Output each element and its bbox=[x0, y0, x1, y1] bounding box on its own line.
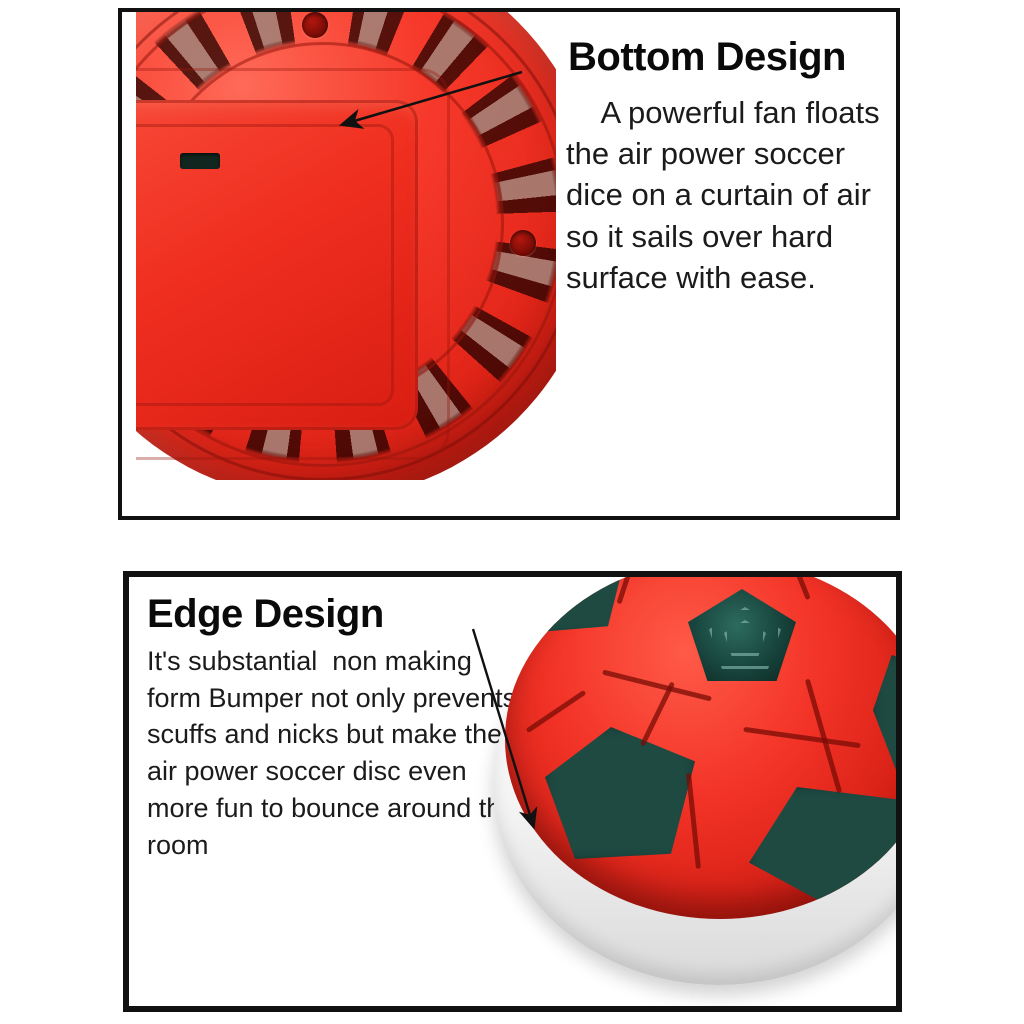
disc-underside-body bbox=[136, 12, 556, 480]
seam-6 bbox=[602, 670, 712, 702]
center-fan-grille bbox=[688, 589, 796, 681]
infographic-canvas: Bottom Design A powerful fan floats the … bbox=[0, 0, 1024, 1024]
facet-green-bottom bbox=[749, 787, 897, 913]
screw-hole-top bbox=[302, 12, 328, 38]
battery-cover-plate bbox=[136, 100, 418, 430]
panel-heading-bottom-design: Bottom Design bbox=[568, 36, 892, 78]
battery-cover-slot bbox=[180, 153, 220, 169]
panel-bottom-design: Bottom Design A powerful fan floats the … bbox=[118, 8, 900, 520]
seam-8 bbox=[526, 690, 587, 733]
red-hover-disc-underside-photo bbox=[136, 12, 556, 480]
seam-1 bbox=[616, 577, 638, 604]
panel-edge-design: Edge Design It's substantial non making … bbox=[123, 571, 902, 1012]
soccer-hover-disc-photo bbox=[459, 577, 897, 1006]
seam-5 bbox=[686, 773, 701, 869]
screw-hole-right bbox=[510, 230, 536, 256]
facet-green-top-left bbox=[505, 577, 629, 635]
bottom-design-text-column: Bottom Design A powerful fan floats the … bbox=[554, 28, 892, 298]
seam-2 bbox=[788, 577, 811, 600]
panel-body-bottom-design: A powerful fan floats the air power socc… bbox=[566, 92, 892, 298]
facet-green-right bbox=[873, 655, 897, 775]
hover-disc-assembly bbox=[487, 577, 897, 1006]
facet-green-left bbox=[545, 727, 695, 859]
seam-7 bbox=[743, 727, 861, 748]
